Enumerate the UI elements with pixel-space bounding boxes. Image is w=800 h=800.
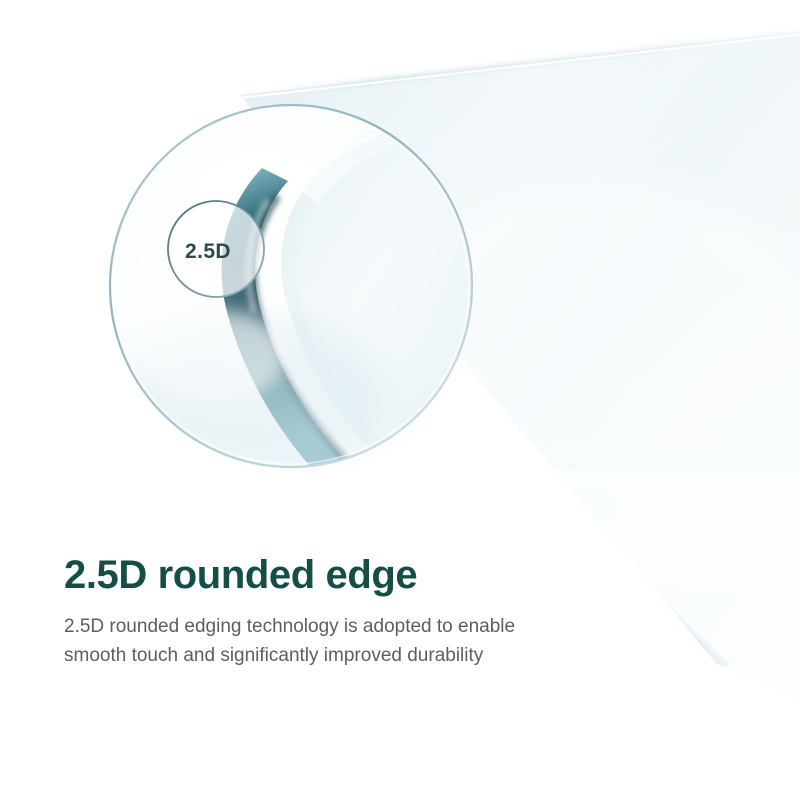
illustration-canvas: 2.5D <box>0 0 800 800</box>
callout-2-5d: 2.5D <box>168 201 264 297</box>
callout-label: 2.5D <box>185 240 231 263</box>
glass-edge-illustration: 2.5D <box>0 0 800 800</box>
page-title: 2.5D rounded edge <box>64 552 684 598</box>
lens-glass-tint <box>110 105 472 467</box>
caption-body-line-1: 2.5D rounded edging technology is adopte… <box>64 612 574 641</box>
caption-body-line-2: smooth touch and significantly improved … <box>64 641 574 670</box>
caption-body: 2.5D rounded edging technology is adopte… <box>64 598 574 670</box>
caption-block: 2.5D rounded edge 2.5D rounded edging te… <box>64 552 684 670</box>
product-feature-banner: 2.5D 2.5D rounded edge 2.5D rounded edgi… <box>0 0 800 800</box>
